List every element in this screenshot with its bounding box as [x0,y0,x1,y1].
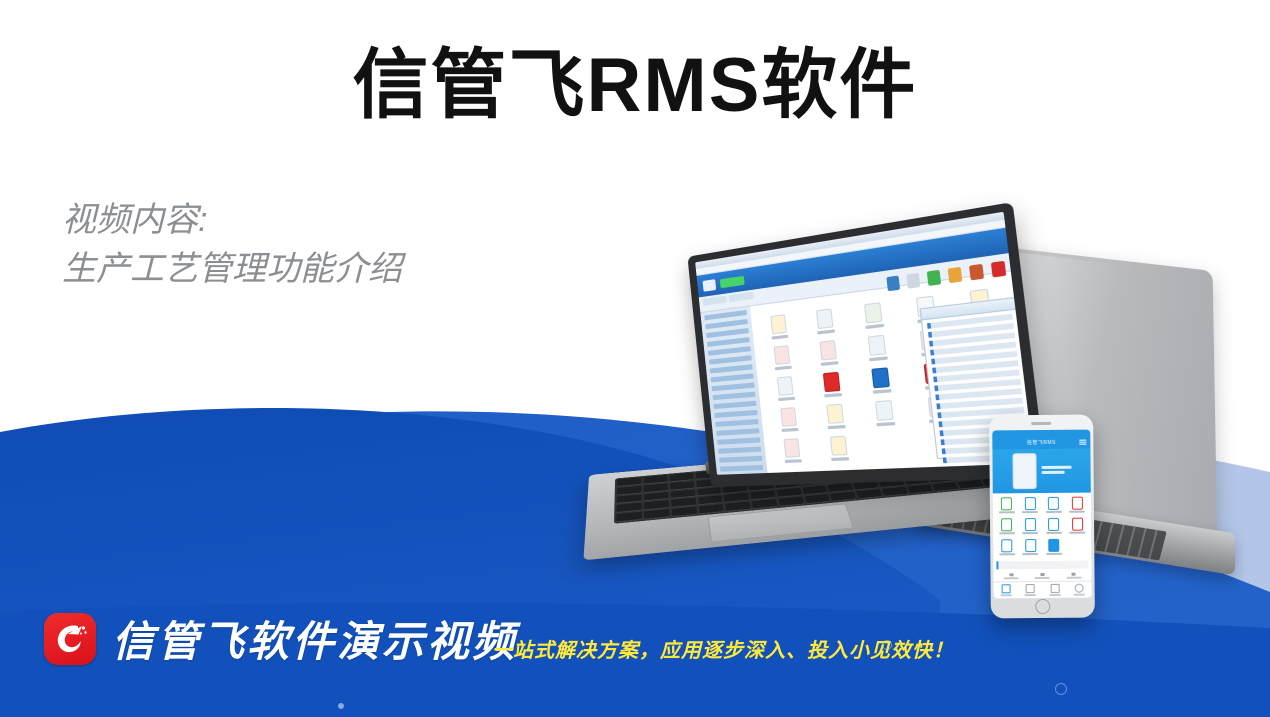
brand-tagline: 一站式解决方案，应用逐步深入、投入小见效快！ [492,634,954,663]
sidebar-item[interactable] [720,465,764,472]
subtitle-label: 视频内容: [62,196,402,245]
sidebar-item[interactable] [718,447,761,454]
laptop-screen [695,212,1034,475]
mobile-app-icon-placeholder [1067,539,1089,555]
toolbar-icon[interactable] [886,276,900,292]
mobile-app-icon[interactable] [1019,497,1041,513]
hamburger-menu-icon[interactable] [1079,440,1086,445]
app-icon[interactable] [816,435,863,462]
mobile-app-icon[interactable] [996,497,1018,513]
mobile-app-icon[interactable] [1020,518,1042,534]
smartphone: 信管飞RMS [989,415,1095,619]
toolbar-icon[interactable] [991,261,1006,278]
app-icon[interactable] [809,370,856,398]
app-icon[interactable] [861,399,910,427]
mobile-app-header: 信管飞RMS [992,436,1090,450]
hero-device-illustration [1012,453,1036,489]
sidebar-item[interactable] [710,364,753,373]
app-icon[interactable] [850,300,899,330]
toolbar-icon[interactable] [906,273,920,289]
subtitle-topic: 生产工艺管理功能介绍 [62,245,402,294]
app-icon[interactable] [757,313,801,341]
sidebar-item[interactable] [713,401,756,409]
subtitle-block: 视频内容: 生产工艺管理功能介绍 [62,196,402,295]
tab-item[interactable] [703,296,727,306]
decor-dot [338,703,344,709]
nav-profile[interactable] [1067,582,1092,598]
toolbar-icon[interactable] [948,267,963,283]
mobile-app-icon[interactable] [1043,518,1065,534]
stat-item[interactable] [1059,573,1088,579]
brand-name: 信管飞软件演示视频 [112,608,517,669]
phone-home-button[interactable] [1035,599,1050,614]
sidebar-item[interactable] [719,456,762,463]
sidebar-item[interactable] [706,328,749,338]
mobile-app-title: 信管飞RMS [1027,439,1056,446]
mobile-app-icon[interactable] [996,539,1018,555]
mobile-app-icon[interactable] [996,518,1018,534]
sidebar-item[interactable] [714,410,757,418]
hero-caption [1041,466,1071,476]
nav-chart[interactable] [1043,582,1068,598]
tab-item[interactable] [729,292,754,302]
nav-home[interactable] [994,582,1019,598]
app-icon[interactable] [802,307,848,336]
mobile-app-icon[interactable] [1020,539,1042,555]
app-icon[interactable] [806,338,852,367]
stat-item[interactable] [996,573,1025,579]
sidebar-item[interactable] [712,392,755,401]
app-icon[interactable] [763,375,807,402]
mobile-bottom-nav[interactable] [994,581,1092,599]
mobile-section-header [996,561,1088,570]
app-icon[interactable] [812,403,859,430]
mobile-icon-grid [993,493,1092,560]
app-icon[interactable] [770,438,815,464]
app-icon[interactable] [857,366,906,395]
mobile-hero-banner [992,449,1090,494]
decor-dot [1055,683,1067,695]
sidebar-item[interactable] [717,437,760,444]
sidebar-item[interactable] [709,355,752,364]
toolbar-icon[interactable] [927,270,941,286]
mobile-app-icon[interactable] [1043,497,1065,513]
phone-screen: 信管飞RMS [992,430,1091,599]
toolbar-icon[interactable] [969,264,984,281]
app-icon[interactable] [854,333,903,363]
nav-grid[interactable] [1018,582,1043,598]
sidebar-item[interactable] [716,428,759,436]
app-badge [720,275,745,288]
app-logo-icon [702,279,716,292]
mobile-app-icon[interactable] [1067,518,1089,534]
mobile-app-icon[interactable] [1043,539,1065,555]
device-cluster: 信管飞RMS [585,250,1270,630]
sidebar-item[interactable] [711,373,754,382]
sidebar-item[interactable] [707,337,750,347]
flying-bird-logo-icon [44,613,96,665]
stat-item[interactable] [1028,573,1057,579]
sidebar-item[interactable] [721,474,765,475]
slide-canvas: 信管飞RMS软件 视频内容: 生产工艺管理功能介绍 [0,0,1270,717]
sidebar-item[interactable] [708,346,751,356]
sidebar-item[interactable] [715,419,758,427]
sidebar-item[interactable] [712,383,755,392]
app-icon[interactable] [767,406,811,433]
sidebar-item[interactable] [705,319,748,329]
page-title: 信管飞RMS软件 [0,48,1270,124]
phone-earpiece [1031,422,1051,425]
mobile-app-icon[interactable] [1066,497,1088,513]
app-icon[interactable] [760,344,804,372]
brand-bar: 信管飞软件演示视频 [44,608,517,669]
